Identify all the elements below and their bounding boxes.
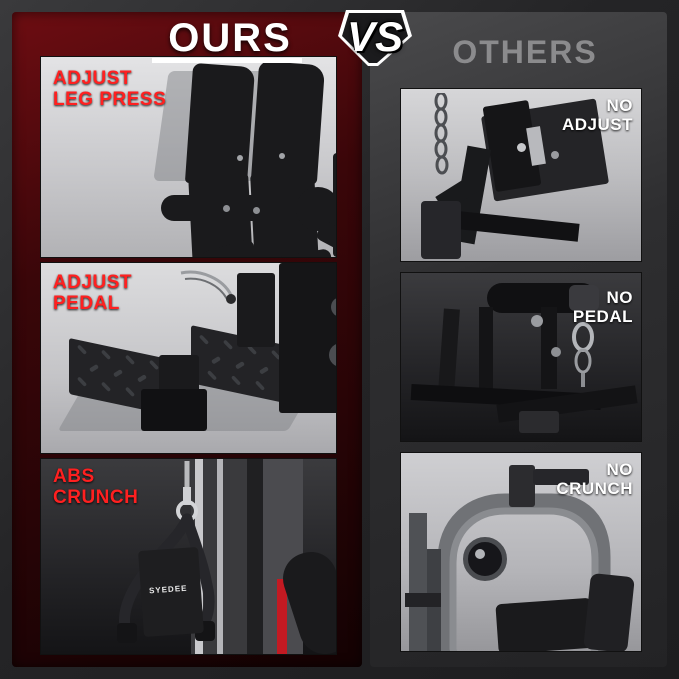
no-pedal-base-photo: NO PEDAL xyxy=(400,272,642,442)
pivot-bolt-1 xyxy=(531,315,543,327)
adjust-hole-3 xyxy=(237,155,243,161)
ours-title: OURS xyxy=(150,16,310,61)
comparison-infographic: OURS OTHERS VS ADJUST LEG PRE xyxy=(0,0,679,679)
pivot-bolt-2 xyxy=(551,347,561,357)
mid-arm xyxy=(479,307,493,391)
left-cross-brace xyxy=(405,593,441,607)
caption-adjust-leg-press: ADJUST LEG PRESS xyxy=(53,69,166,111)
adjust-hole-4 xyxy=(279,153,285,159)
adjust-hole-2 xyxy=(253,207,260,214)
caption-abs-crunch: ABS CRUNCH xyxy=(53,467,138,509)
caption-no-adjust: NO ADJUST xyxy=(562,97,633,134)
vs-badge: VS xyxy=(338,10,412,66)
caption-no-pedal: NO PEDAL xyxy=(573,289,633,326)
others-title: OTHERS xyxy=(425,34,625,71)
seat-back xyxy=(421,201,461,259)
pulley-hub xyxy=(475,549,485,559)
leg-press-footplate-photo: ADJUST LEG PRESS xyxy=(40,56,337,258)
caption-no-crunch: NO CRUNCH xyxy=(556,461,633,498)
adjust-hole-1 xyxy=(223,205,230,212)
no-crunch-frame-photo: NO CRUNCH xyxy=(400,452,642,652)
plate-bolt-2 xyxy=(551,151,559,159)
caption-adjust-pedal: ADJUST PEDAL xyxy=(53,273,132,315)
fixed-leg-press-photo: NO ADJUST xyxy=(400,88,642,262)
footplate-upper-left xyxy=(185,63,255,187)
left-upright xyxy=(409,513,427,651)
seat-pad xyxy=(495,598,594,652)
upright-post xyxy=(237,273,275,347)
abs-crunch-rope-photo: SYEDEE ABS CRUNCH xyxy=(40,458,337,655)
pulley-wheel xyxy=(463,537,507,581)
pedal-support-block xyxy=(141,389,207,431)
adjustable-pedal-photo: ADJUST PEDAL xyxy=(40,262,337,454)
back-pad xyxy=(583,573,635,652)
machine-column xyxy=(279,263,337,413)
base-foot-plate xyxy=(519,411,559,433)
plate-bolt xyxy=(517,143,526,152)
ours-title-underline xyxy=(152,58,302,63)
footplate-upper-right xyxy=(251,61,325,185)
vs-label: VS xyxy=(338,10,412,64)
